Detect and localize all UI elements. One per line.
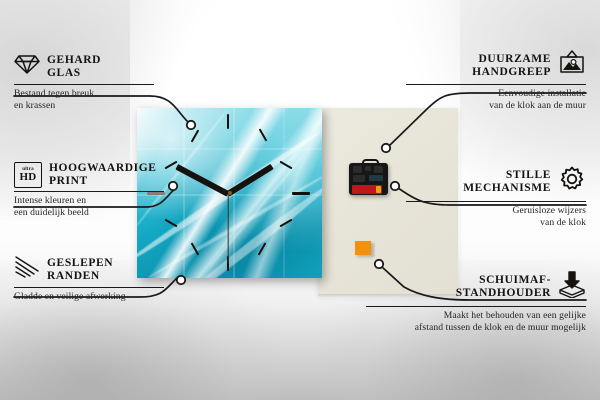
feature-title: GEHARD GLAS <box>47 54 101 80</box>
diamond-icon <box>14 52 40 81</box>
feature-title: DUURZAME HANDGREEP <box>472 53 551 79</box>
leader-dot-schuimafstandhouder <box>375 260 383 268</box>
picture-frame-icon <box>558 50 586 81</box>
feature-rule <box>406 201 586 202</box>
feature-rule <box>366 306 586 307</box>
feature-header: STILLE MECHANISME <box>406 165 586 198</box>
feature-header: GESLEPEN RANDEN <box>14 255 164 284</box>
feature-title: GESLEPEN RANDEN <box>47 257 113 283</box>
infographic-canvas: GEHARD GLAS Bestand tegen breuk en krass… <box>0 0 600 400</box>
clock-center-cap <box>228 191 232 195</box>
feature-subtitle: Geruisloze wijzers van de klok <box>406 205 586 228</box>
feature-header: ultra HD HOOGWAARDIGE PRINT <box>14 162 164 188</box>
feature-subtitle: Eenvoudige installatie van de klok aan d… <box>406 88 586 111</box>
feature-title: SCHUIMAF- STANDHOUDER <box>456 274 551 300</box>
ultra-hd-icon: ultra HD <box>14 162 42 188</box>
diagonal-lines-icon <box>14 255 40 284</box>
leader-dot-duurzame-handgreep <box>382 144 390 152</box>
feature-stille-mechanisme[interactable]: STILLE MECHANISME Geruisloze wijzers van… <box>406 165 586 228</box>
feature-schuimafstandhouder[interactable]: SCHUIMAF- STANDHOUDER Maakt het behouden… <box>366 270 586 333</box>
feature-duurzame-handgreep[interactable]: DUURZAME HANDGREEP Eenvoudige installati… <box>406 50 586 111</box>
feature-gehard-glas[interactable]: GEHARD GLAS Bestand tegen breuk en krass… <box>14 52 154 111</box>
feature-subtitle: Intense kleuren en een duidelijk beeld <box>14 195 164 218</box>
feature-rule <box>14 287 164 288</box>
feature-rule <box>14 191 164 192</box>
leader-dot-gehard-glas <box>187 121 195 129</box>
feature-rule <box>406 84 586 85</box>
feature-hoogwaardige-print[interactable]: ultra HD HOOGWAARDIGE PRINT Intense kleu… <box>14 162 164 218</box>
feature-header: DUURZAME HANDGREEP <box>406 50 586 81</box>
feature-header: GEHARD GLAS <box>14 52 154 81</box>
gear-icon <box>558 165 586 198</box>
feature-subtitle: Bestand tegen breuk en krassen <box>14 88 154 111</box>
leader-dot-stille-mechanisme <box>391 182 399 190</box>
feature-title: STILLE MECHANISME <box>463 169 551 195</box>
press-down-pad-icon <box>558 270 586 303</box>
feature-title: HOOGWAARDIGE PRINT <box>49 162 157 188</box>
leader-dot-hoogwaardige-print <box>169 182 177 190</box>
feature-subtitle: Gladde en veilige afwerking <box>14 291 164 303</box>
feature-header: SCHUIMAF- STANDHOUDER <box>366 270 586 303</box>
leader-dot-geslepen-randen <box>177 276 185 284</box>
feature-rule <box>14 84 154 85</box>
feature-geslepen-randen[interactable]: GESLEPEN RANDEN Gladde en veilige afwerk… <box>14 255 164 303</box>
feature-subtitle: Maakt het behouden van een gelijke afsta… <box>366 310 586 333</box>
